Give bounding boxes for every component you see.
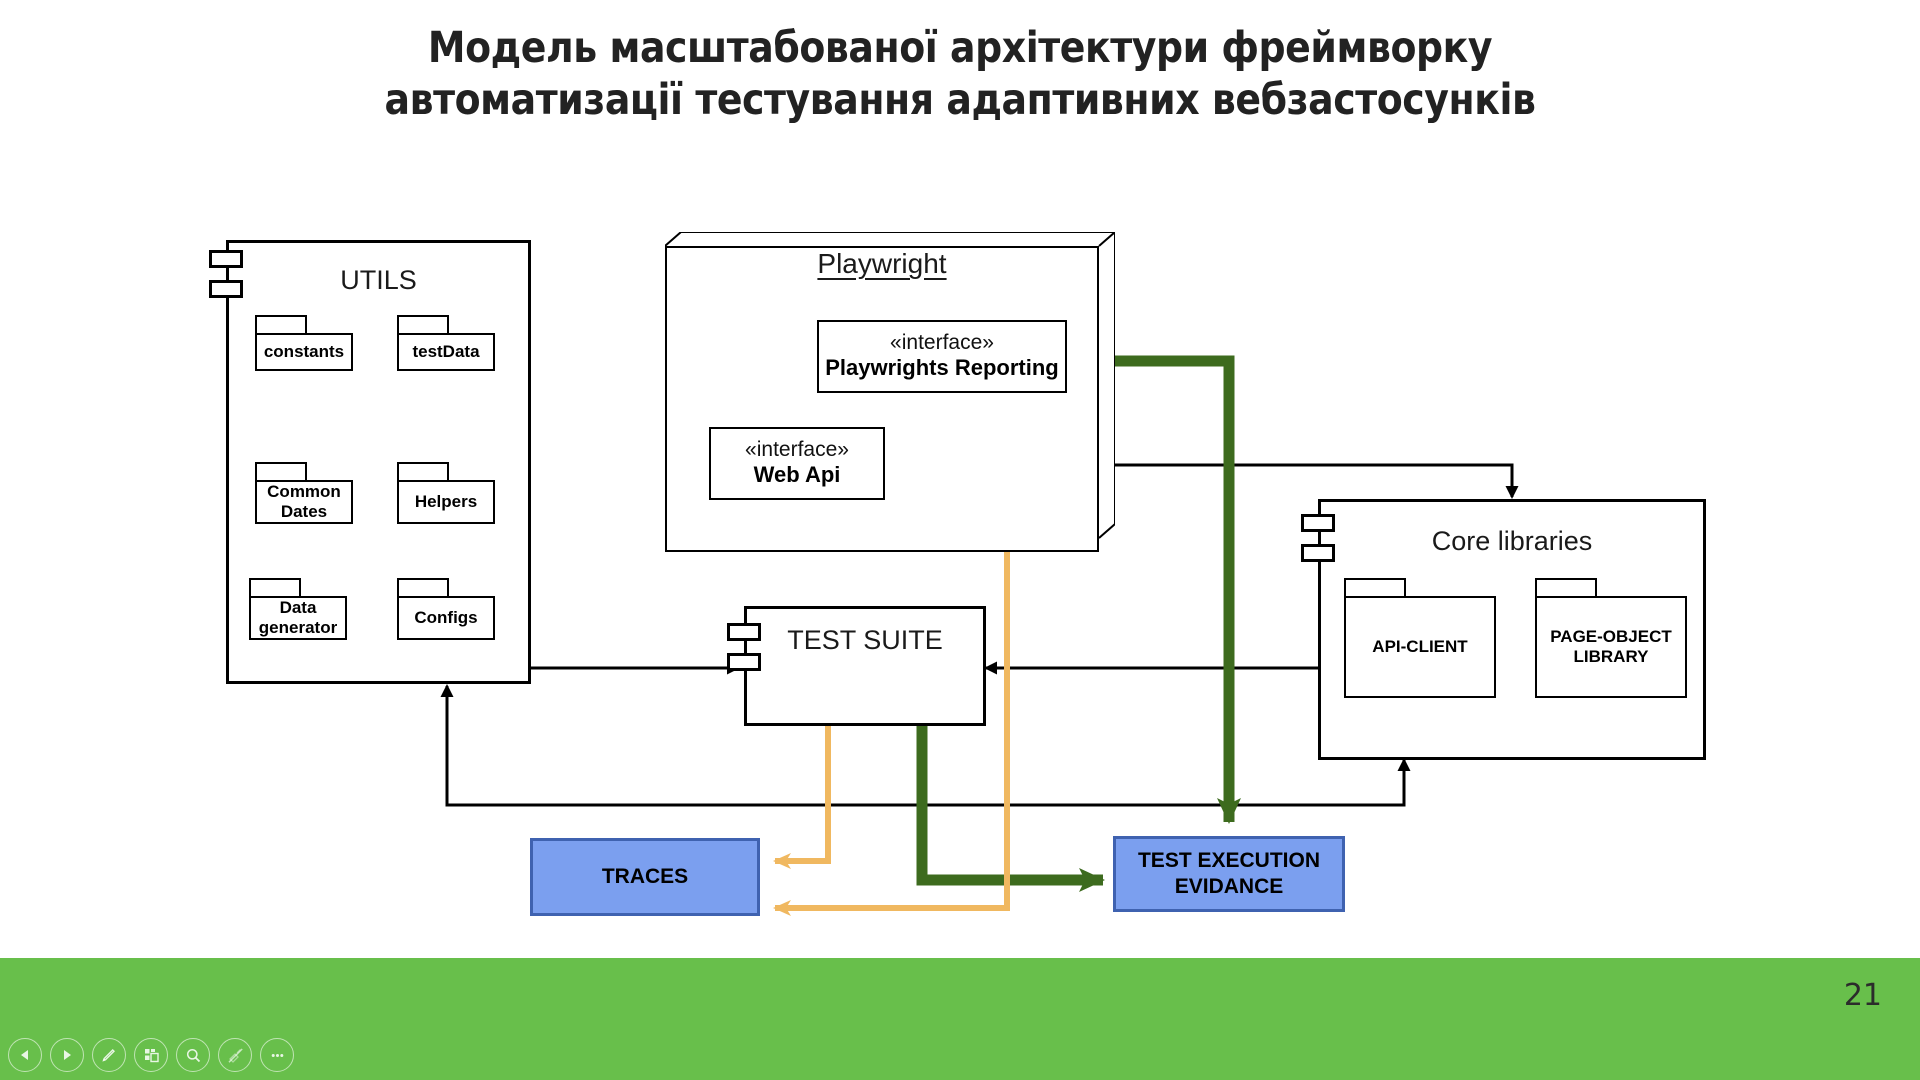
package-tab [1535,578,1597,598]
package-label: API-CLIENT [1344,596,1496,698]
package-configs[interactable]: Configs [397,578,495,640]
stereotype-label: «interface» [890,331,994,355]
package-helpers[interactable]: Helpers [397,462,495,524]
utils-title: UTILS [229,265,528,296]
triangle-right-icon [59,1047,75,1063]
slide-footer-band: 21 [0,958,1920,1080]
pen-icon [100,1046,118,1064]
package-testdata[interactable]: testData [397,315,495,371]
core-libraries-title: Core libraries [1321,526,1703,557]
test-suite-component[interactable]: TEST SUITE [744,606,986,726]
playwright-title: Playwright [665,248,1099,280]
package-label: Common Dates [255,480,353,524]
laser-pointer-off-icon [227,1047,244,1064]
package-tab [255,315,307,335]
pen-tool-button[interactable] [92,1038,126,1072]
utils-component-icon [209,250,243,302]
package-data-generator[interactable]: Data generator [249,578,347,640]
package-label: Data generator [249,596,347,640]
package-tab [255,462,307,482]
triangle-left-icon [17,1047,33,1063]
laser-pointer-button[interactable] [218,1038,252,1072]
package-page-object-library[interactable]: PAGE-OBJECT LIBRARY [1535,578,1687,698]
presentation-toolbar[interactable] [8,1038,294,1072]
package-tab [397,578,449,598]
presentation-slide: Модель масштабованої архітектури фреймво… [0,0,1920,1080]
core-libraries-component-icon [1301,514,1335,566]
previous-slide-button[interactable] [8,1038,42,1072]
slide-overview-button[interactable] [134,1038,168,1072]
magnifier-icon [185,1047,202,1064]
package-api-client[interactable]: API-CLIENT [1344,578,1496,698]
test-suite-component-icon [727,623,761,675]
stereotype-label: «interface» [745,438,849,462]
package-tab [1344,578,1406,598]
ellipsis-icon [269,1047,286,1064]
package-label: Helpers [397,480,495,524]
architecture-diagram: UTILS constants testData Common Dates He… [0,0,1920,960]
package-tab [249,578,301,598]
package-tab [397,315,449,335]
test-execution-evidence-artifact[interactable]: TEST EXECUTION EVIDANCE [1113,836,1345,912]
interface-name: Web Api [754,462,841,488]
test-suite-title: TEST SUITE [747,625,983,656]
playwright-face [665,246,1099,552]
page-number: 21 [1844,978,1882,1013]
package-common-dates[interactable]: Common Dates [255,462,353,524]
package-label: PAGE-OBJECT LIBRARY [1535,596,1687,698]
interface-web-api[interactable]: «interface» Web Api [709,427,885,500]
package-label: Configs [397,596,495,640]
package-label: testData [397,333,495,371]
package-label: constants [255,333,353,371]
interface-playwrights-reporting[interactable]: «interface» Playwrights Reporting [817,320,1067,393]
more-options-button[interactable] [260,1038,294,1072]
next-slide-button[interactable] [50,1038,84,1072]
interface-name: Playwrights Reporting [825,355,1058,381]
package-constants[interactable]: constants [255,315,353,371]
zoom-tool-button[interactable] [176,1038,210,1072]
traces-artifact[interactable]: TRACES [530,838,760,916]
package-tab [397,462,449,482]
grid-icon [143,1047,160,1064]
